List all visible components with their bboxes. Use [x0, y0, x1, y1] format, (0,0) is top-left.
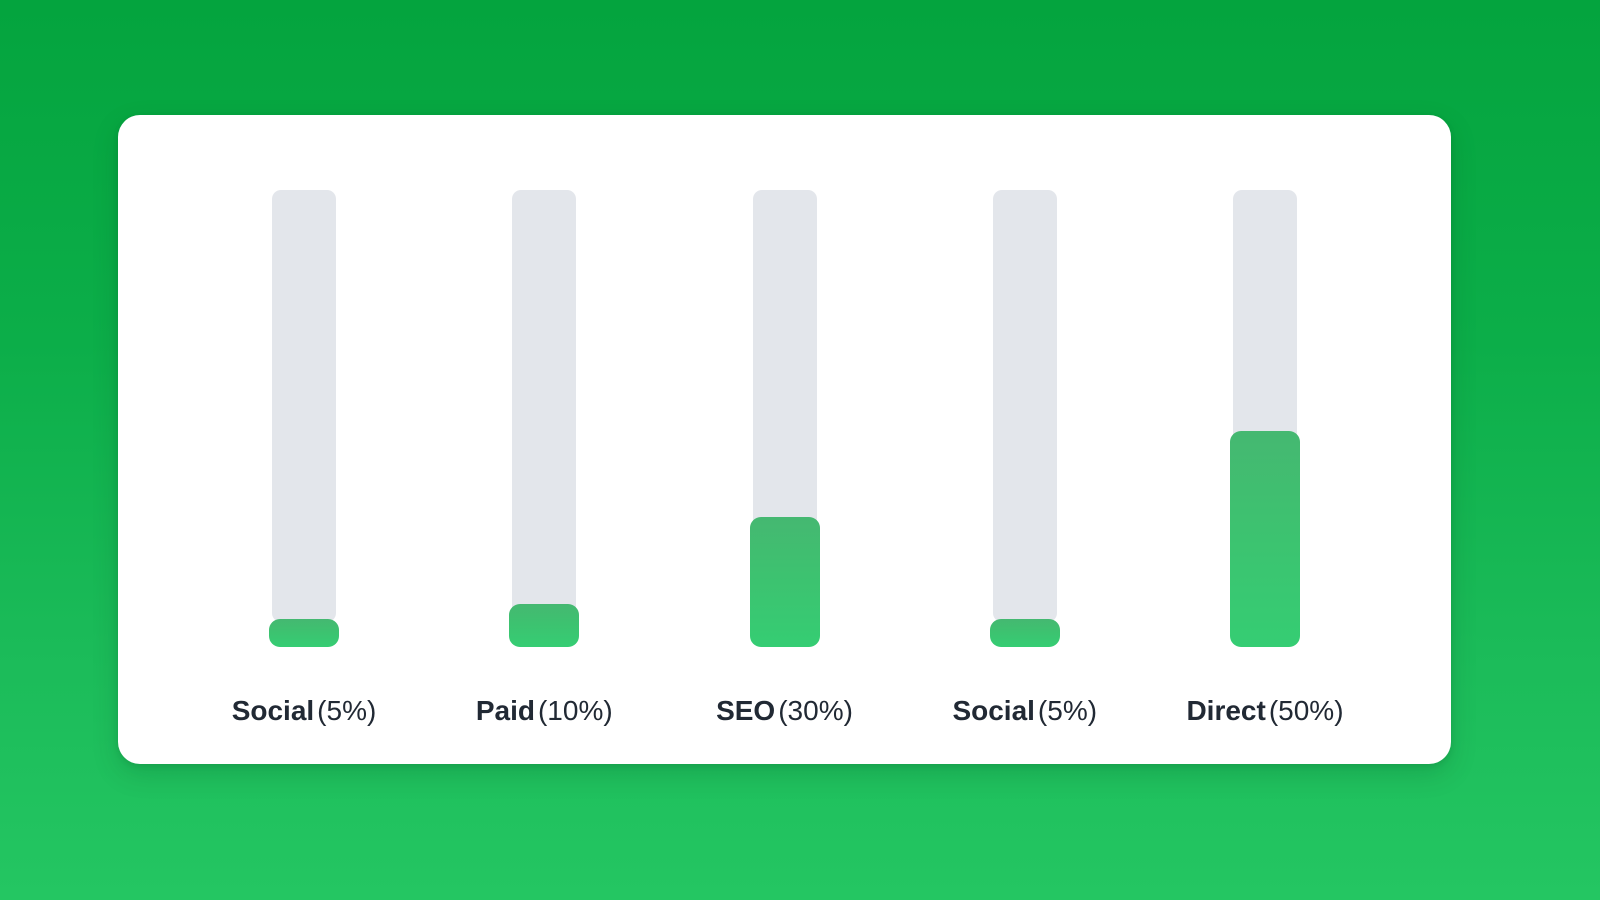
bar-fill — [750, 517, 820, 647]
bar-group[interactable]: Paid(10%) — [454, 115, 634, 764]
bar-label-name: Social — [232, 695, 314, 726]
bar-label-percent: (30%) — [778, 695, 853, 726]
bar-group[interactable]: SEO(30%) — [695, 115, 875, 764]
bar-fill — [509, 604, 579, 647]
bar-label-percent: (10%) — [538, 695, 613, 726]
bar-label-name: Direct — [1186, 695, 1265, 726]
bar-label-percent: (5%) — [1038, 695, 1097, 726]
bar-label-percent: (50%) — [1269, 695, 1344, 726]
bar-chart: Social(5%) Paid(10%) SEO(30%) — [118, 115, 1451, 764]
bar-track — [512, 190, 576, 622]
bar-fill — [990, 619, 1060, 647]
bar-group[interactable]: Direct(50%) — [1175, 115, 1355, 764]
bar-label-name: Paid — [476, 695, 535, 726]
chart-card: Social(5%) Paid(10%) SEO(30%) — [118, 115, 1451, 764]
bar-label: Social(5%) — [935, 694, 1115, 728]
bar-label: SEO(30%) — [695, 694, 875, 728]
bar-label: Paid(10%) — [454, 694, 634, 728]
bar-track — [993, 190, 1057, 622]
bar-label-percent: (5%) — [317, 695, 376, 726]
bar-track — [272, 190, 336, 622]
bar-label-name: SEO — [716, 695, 775, 726]
bar-label: Social(5%) — [214, 694, 394, 728]
bar-fill — [1230, 431, 1300, 647]
bar-fill — [269, 619, 339, 647]
app-background: Social(5%) Paid(10%) SEO(30%) — [0, 0, 1600, 900]
bar-group[interactable]: Social(5%) — [214, 115, 394, 764]
bar-label-name: Social — [952, 695, 1034, 726]
bar-group[interactable]: Social(5%) — [935, 115, 1115, 764]
bar-label: Direct(50%) — [1175, 694, 1355, 728]
